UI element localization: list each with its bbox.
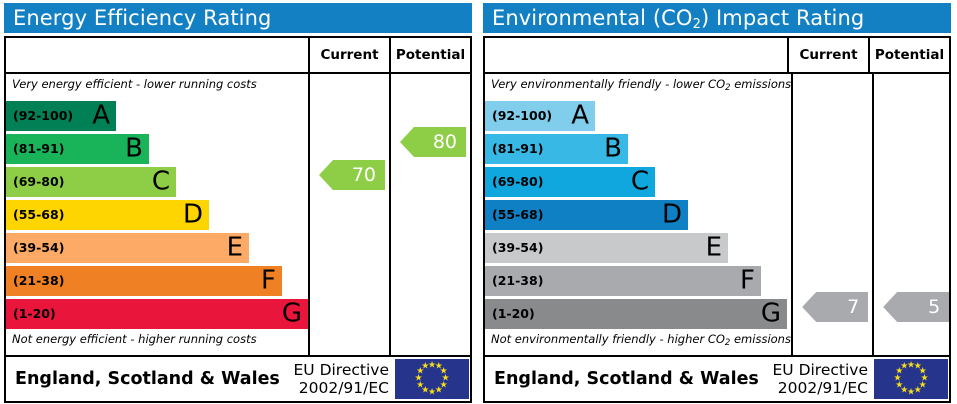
environmental-impact-current-column: 7 <box>791 74 872 355</box>
band-letter-label: G <box>282 300 302 326</box>
rating-arrow-5: 5 <box>883 292 949 322</box>
energy-efficiency-current-header: Current <box>308 38 389 72</box>
rating-band-f: (21-38)F <box>485 266 761 296</box>
band-letter-label: D <box>662 201 682 227</box>
energy-efficiency-footer: England, Scotland & Wales EU Directive 2… <box>6 355 470 401</box>
energy-efficiency-chart: Energy Efficiency Rating Current Potenti… <box>0 0 478 404</box>
band-letter-label: A <box>92 102 110 128</box>
rating-band-c: (69-80)C <box>6 167 176 197</box>
environmental-impact-potential-column: 5 <box>872 74 953 355</box>
band-letter-label: F <box>261 267 276 293</box>
energy-efficiency-potential-column: 80 <box>389 74 470 355</box>
epc-charts-page: Energy Efficiency Rating Current Potenti… <box>0 0 957 404</box>
band-range-label: (92-100) <box>6 101 73 131</box>
bottom-note-part-a: Not environmentally friendly - higher CO <box>491 332 725 346</box>
rating-band-e: (39-54)E <box>485 233 728 263</box>
rating-arrow-7: 7 <box>802 292 868 322</box>
eu-flag-icon: ★★★★★★★★★★★★ <box>874 359 948 399</box>
directive-line-1: EU Directive <box>294 361 390 379</box>
rating-arrow-70: 70 <box>319 160 385 190</box>
environmental-impact-country-label: England, Scotland & Wales <box>485 369 773 389</box>
rating-band-d: (55-68)D <box>6 200 209 230</box>
energy-efficiency-top-note: Very energy efficient - lower running co… <box>6 74 308 101</box>
energy-efficiency-current-column: 70 <box>308 74 389 355</box>
band-letter-label: D <box>183 201 203 227</box>
band-range-label: (1-20) <box>6 299 56 329</box>
eu-star-icon: ★ <box>900 363 909 372</box>
band-letter-label: G <box>761 300 781 326</box>
environmental-impact-header-row: Current Potential <box>485 38 949 74</box>
environmental-impact-title-subscript: 2 <box>693 17 701 32</box>
rating-band-g: (1-20)G <box>6 299 308 329</box>
band-range-label: (81-91) <box>6 134 64 164</box>
band-letter-label: B <box>125 135 143 161</box>
band-range-label: (55-68) <box>485 200 543 230</box>
rating-band-e: (39-54)E <box>6 233 249 263</box>
rating-band-b: (81-91)B <box>485 134 628 164</box>
bottom-note-subscript: 2 <box>725 338 730 348</box>
environmental-impact-body-row: Very environmentally friendly - lower CO… <box>485 74 949 355</box>
band-letter-label: E <box>706 234 722 260</box>
energy-efficiency-title-text: Energy Efficiency Rating <box>13 6 271 30</box>
energy-efficiency-header-spacer <box>6 38 308 72</box>
eu-flag-icon: ★★★★★★★★★★★★ <box>395 359 469 399</box>
rating-band-g: (1-20)G <box>485 299 787 329</box>
environmental-impact-bottom-note: Not environmentally friendly - higher CO… <box>485 329 791 355</box>
rating-band-c: (69-80)C <box>485 167 655 197</box>
band-letter-label: A <box>571 102 589 128</box>
band-letter-label: B <box>604 135 622 161</box>
band-range-label: (69-80) <box>6 167 64 197</box>
environmental-impact-table: Current Potential Very environmentally f… <box>483 36 951 403</box>
band-range-label: (81-91) <box>485 134 543 164</box>
top-note-part-b: emissions <box>731 77 792 91</box>
energy-efficiency-potential-header: Potential <box>389 38 470 72</box>
environmental-impact-current-header: Current <box>787 38 868 72</box>
rating-band-d: (55-68)D <box>485 200 688 230</box>
environmental-impact-band-list: (92-100)A(81-91)B(69-80)C(55-68)D(39-54)… <box>485 101 791 329</box>
directive-line-2: 2002/91/EC <box>773 379 869 397</box>
band-letter-label: F <box>740 267 755 293</box>
energy-efficiency-directive-label: EU Directive 2002/91/EC <box>294 361 396 397</box>
directive-line-2: 2002/91/EC <box>294 379 390 397</box>
environmental-impact-potential-header: Potential <box>868 38 949 72</box>
bottom-note-part-b: emissions <box>730 332 791 346</box>
energy-efficiency-title: Energy Efficiency Rating <box>4 3 472 33</box>
environmental-impact-header-spacer <box>485 38 787 72</box>
energy-efficiency-bands-column: Very energy efficient - lower running co… <box>6 74 308 355</box>
environmental-impact-directive-label: EU Directive 2002/91/EC <box>773 361 875 397</box>
environmental-impact-top-note: Very environmentally friendly - lower CO… <box>485 74 791 101</box>
band-range-label: (21-38) <box>6 266 64 296</box>
rating-arrow-80: 80 <box>400 127 466 157</box>
top-note-part-a: Very environmentally friendly - lower CO <box>491 77 725 91</box>
band-range-label: (1-20) <box>485 299 535 329</box>
band-range-label: (55-68) <box>6 200 64 230</box>
band-letter-label: C <box>152 168 170 194</box>
band-letter-label: C <box>631 168 649 194</box>
rating-band-a: (92-100)A <box>485 101 595 131</box>
band-range-label: (39-54) <box>485 233 543 263</box>
energy-efficiency-table: Current Potential Very energy efficient … <box>4 36 472 403</box>
directive-line-1: EU Directive <box>773 361 869 379</box>
energy-efficiency-body-row: Very energy efficient - lower running co… <box>6 74 470 355</box>
energy-efficiency-header-row: Current Potential <box>6 38 470 74</box>
band-letter-label: E <box>227 234 243 260</box>
band-range-label: (69-80) <box>485 167 543 197</box>
environmental-impact-title-text-b: ) Impact Rating <box>701 6 864 30</box>
top-note-subscript: 2 <box>725 83 730 93</box>
eu-star-icon: ★ <box>421 363 430 372</box>
band-range-label: (21-38) <box>485 266 543 296</box>
band-range-label: (92-100) <box>485 101 552 131</box>
band-range-label: (39-54) <box>6 233 64 263</box>
environmental-impact-chart: Environmental (CO2) Impact Rating Curren… <box>479 0 957 404</box>
rating-band-a: (92-100)A <box>6 101 116 131</box>
energy-efficiency-band-list: (92-100)A(81-91)B(69-80)C(55-68)D(39-54)… <box>6 101 308 329</box>
environmental-impact-footer: England, Scotland & Wales EU Directive 2… <box>485 355 949 401</box>
rating-band-f: (21-38)F <box>6 266 282 296</box>
environmental-impact-bands-column: Very environmentally friendly - lower CO… <box>485 74 791 355</box>
rating-band-b: (81-91)B <box>6 134 149 164</box>
energy-efficiency-bottom-note: Not energy efficient - higher running co… <box>6 329 308 355</box>
environmental-impact-title-text-a: Environmental (CO <box>492 6 693 30</box>
energy-efficiency-country-label: England, Scotland & Wales <box>6 369 294 389</box>
environmental-impact-title: Environmental (CO2) Impact Rating <box>483 3 951 33</box>
